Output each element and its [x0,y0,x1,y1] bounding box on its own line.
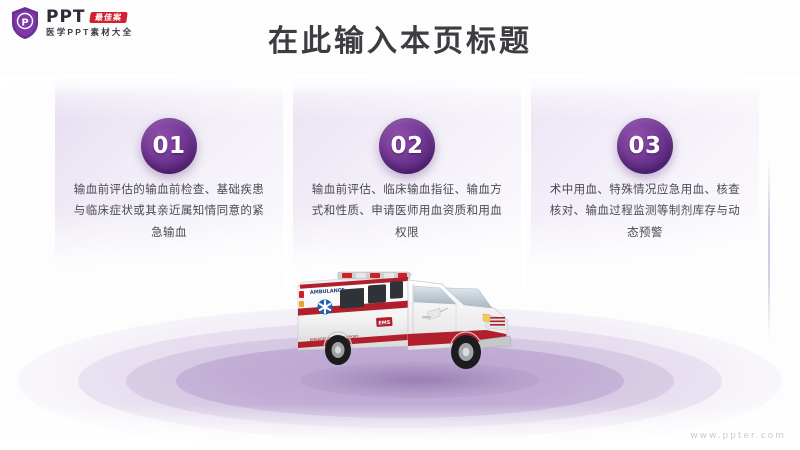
page-title: 在此输入本页标题 [0,16,800,60]
number-badge-2[interactable]: 02 [379,118,435,174]
card-text-2: 输血前评估、临床输血指征、输血方式和性质、申请医师用血资质和用血权限 [307,180,507,244]
card-text-3: 术中用血、特殊情况应急用血、核查核对、输血过程监测等制剂库存与动态预警 [545,180,745,244]
number-badge-1-label: 01 [152,133,185,159]
slide-canvas: P PPT 最佳案 医学PPT素材大全 在此输入本页标题 01 02 03 输血… [0,0,800,450]
ambulance-ems-badge: EMS [378,320,391,327]
number-badge-3[interactable]: 03 [617,118,673,174]
ambulance-illustration: AMBULANCE EMERGENCY LIFE SUPPORT EMS [280,258,532,383]
number-badge-3-label: 03 [628,133,661,159]
number-badge-2-label: 02 [390,133,423,159]
wheel-rear [325,335,351,365]
stage-bottom-fade [0,404,800,450]
card-text-1: 输血前评估的输血前检查、基础疾患与临床症状或其亲近属知情同意的紧急输血 [69,180,269,244]
site-watermark: www.ppter.com [690,431,786,441]
wheel-front [451,335,481,369]
number-badge-1[interactable]: 01 [141,118,197,174]
